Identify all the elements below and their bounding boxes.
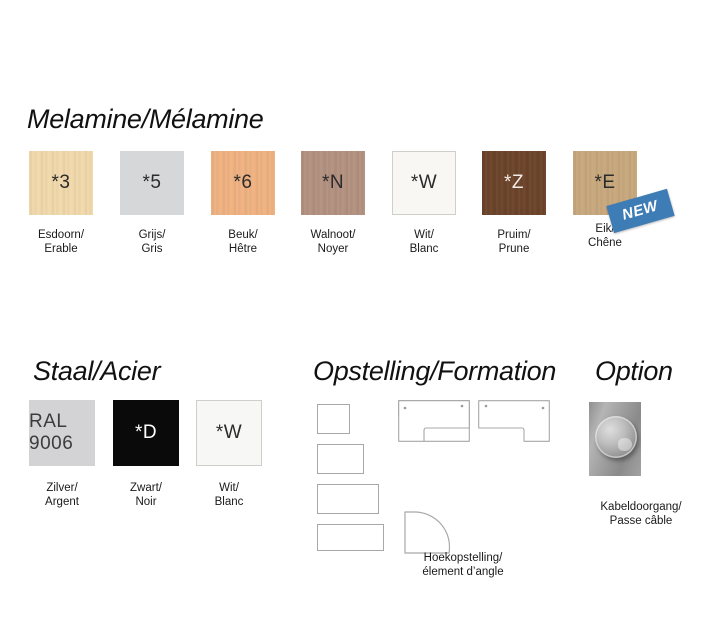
swatch-cell-esdoorn[interactable]: *3 Esdoorn/ Erable	[29, 151, 93, 215]
shape-corner-element[interactable]	[404, 511, 450, 555]
caption-line-2: élement d’angle	[403, 565, 523, 579]
swatch-grijs[interactable]: *5	[120, 151, 184, 215]
grommet-dot	[542, 407, 545, 410]
cable-grommet-caption: Kabeldoorgang/ Passe câble	[576, 500, 706, 528]
swatch-cell-wit[interactable]: *W Wit/ Blanc	[392, 151, 456, 215]
swatch-caption: Wit/ Blanc	[410, 229, 439, 256]
swatch-caption: Beuk/ Hêtre	[228, 229, 257, 256]
shape-square-small[interactable]	[317, 404, 350, 434]
swatch-caption: Zilver/ Argent	[45, 482, 79, 509]
swatch-caption: Pruim/ Prune	[497, 229, 530, 256]
caption-line-2: Passe câble	[576, 514, 706, 528]
swatch-code: *W	[216, 422, 242, 444]
caption-line-1: Walnoot/	[311, 229, 356, 243]
swatch-caption: Wit/ Blanc	[215, 482, 244, 509]
swatch-beuk[interactable]: *6	[211, 151, 275, 215]
swatch-caption: Grijs/ Gris	[139, 229, 166, 256]
swatch-code: *3	[52, 172, 71, 194]
swatch-cell-wit-steel[interactable]: *W Wit/ Blanc	[196, 400, 262, 466]
melamine-heading: Melamine/Mélamine	[27, 104, 264, 135]
swatch-code: *5	[143, 172, 162, 194]
swatch-code: *N	[322, 172, 344, 194]
caption-line-2: Noir	[130, 496, 162, 510]
swatch-cell-beuk[interactable]: *6 Beuk/ Hêtre	[211, 151, 275, 215]
caption-line-2: Argent	[45, 496, 79, 510]
grommet-dot	[461, 405, 464, 408]
swatch-cell-grijs[interactable]: *5 Grijs/ Gris	[120, 151, 184, 215]
swatch-esdoorn[interactable]: *3	[29, 151, 93, 215]
finish-options-chart: Melamine/Mélamine *3 Esdoorn/ Erable *5 …	[0, 0, 720, 630]
caption-line-2: Blanc	[215, 496, 244, 510]
swatch-caption: Walnoot/ Noyer	[311, 229, 356, 256]
caption-line-2: Noyer	[311, 243, 356, 257]
swatch-zwart[interactable]: *D	[113, 400, 179, 466]
swatch-cell-walnoot[interactable]: *N Walnoot/ Noyer	[301, 151, 365, 215]
swatch-code: RAL 9006	[29, 411, 95, 455]
swatch-wit[interactable]: *W	[392, 151, 456, 215]
caption-line-1: Pruim/	[497, 229, 530, 243]
swatch-caption: Zwart/ Noir	[130, 482, 162, 509]
swatch-cell-zwart[interactable]: *D Zwart/ Noir	[113, 400, 179, 466]
shape-rectangle-widest[interactable]	[317, 524, 384, 551]
caption-line-1: Kabeldoorgang/	[576, 500, 706, 514]
swatch-wit-steel[interactable]: *W	[196, 400, 262, 466]
swatch-caption: Esdoorn/ Erable	[38, 229, 84, 256]
caption-line-1: Grijs/	[139, 229, 166, 243]
shape-l-desk-right-return[interactable]	[478, 400, 550, 442]
caption-line-1: Wit/	[215, 482, 244, 496]
corner-element-caption: Hoekopstelling/ élement d’angle	[403, 551, 523, 579]
swatch-code: *6	[234, 172, 253, 194]
swatch-zilver[interactable]: RAL 9006	[29, 400, 95, 466]
swatch-pruim[interactable]: *Z	[482, 151, 546, 215]
cable-grommet-photo[interactable]	[589, 402, 641, 476]
caption-line-2: Prune	[497, 243, 530, 257]
caption-line-1: Esdoorn/	[38, 229, 84, 243]
caption-line-2: Hêtre	[228, 243, 257, 257]
caption-line-1: Zwart/	[130, 482, 162, 496]
option-heading: Option	[595, 356, 673, 387]
swatch-walnoot[interactable]: *N	[301, 151, 365, 215]
caption-line-2: Gris	[139, 243, 166, 257]
grommet-dot	[404, 407, 407, 410]
caption-line-1: Hoekopstelling/	[403, 551, 523, 565]
swatch-code: *Z	[504, 172, 524, 194]
grommet-cap-icon	[595, 416, 637, 458]
caption-line-1: Beuk/	[228, 229, 257, 243]
staal-heading: Staal/Acier	[33, 356, 160, 387]
shape-rectangle-medium[interactable]	[317, 444, 364, 474]
opstelling-heading: Opstelling/Formation	[313, 356, 556, 387]
swatch-code: *E	[594, 172, 615, 194]
caption-line-1: Zilver/	[45, 482, 79, 496]
caption-line-2: Chêne	[588, 237, 622, 251]
shape-l-desk-left-return[interactable]	[398, 400, 470, 442]
swatch-code: *D	[135, 422, 157, 444]
caption-line-2: Blanc	[410, 243, 439, 257]
swatch-cell-pruim[interactable]: *Z Pruim/ Prune	[482, 151, 546, 215]
swatch-code: *W	[411, 172, 437, 194]
caption-line-2: Erable	[38, 243, 84, 257]
swatch-cell-zilver[interactable]: RAL 9006 Zilver/ Argent	[29, 400, 95, 466]
grommet-dot	[485, 405, 488, 408]
shape-rectangle-wide[interactable]	[317, 484, 379, 514]
caption-line-1: Wit/	[410, 229, 439, 243]
